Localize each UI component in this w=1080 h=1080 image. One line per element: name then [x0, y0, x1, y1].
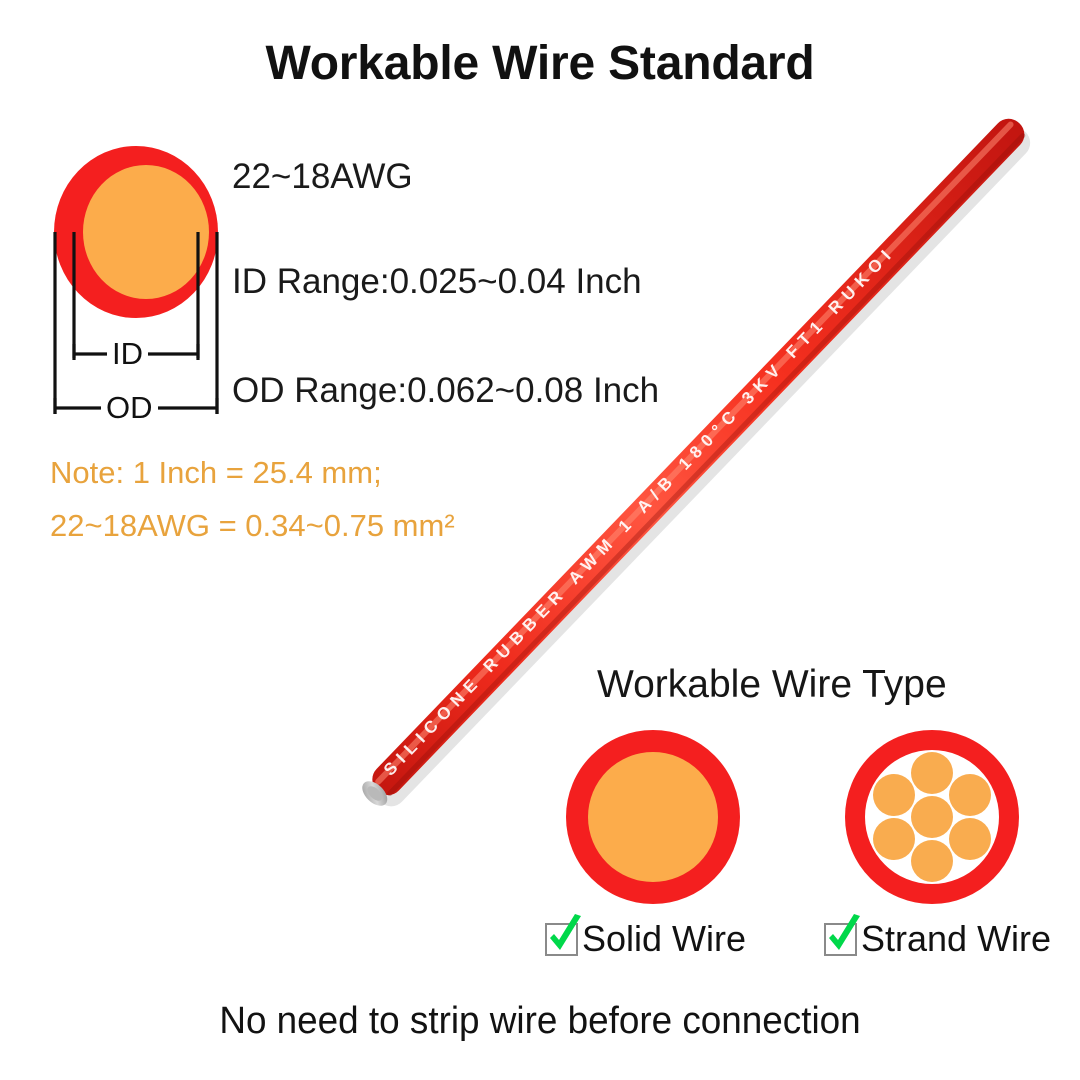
solid-wire-core: [588, 752, 718, 882]
strand-strand: [911, 752, 953, 794]
checkbox-strand-wire[interactable]: [824, 923, 857, 956]
strand-strand: [911, 840, 953, 882]
strand-strand: [873, 774, 915, 816]
check-icon: [545, 914, 585, 958]
note-line-2: 22~18AWG = 0.34~0.75 mm²: [50, 508, 455, 544]
wire-type-heading: Workable Wire Type: [597, 663, 947, 707]
strand-strand: [911, 796, 953, 838]
spec-od-range: OD Range:0.062~0.08 Inch: [232, 371, 659, 411]
wire-type-label-strand: Strand Wire: [861, 918, 1051, 960]
strand-strand: [949, 774, 991, 816]
strand-wire-icon: [845, 730, 1019, 904]
check-icon: [824, 914, 864, 958]
checkbox-solid-wire[interactable]: [545, 923, 578, 956]
strand-wire-field: [865, 750, 999, 884]
solid-wire-icon: [566, 730, 740, 904]
bottom-caption: No need to strip wire before connection: [16, 1000, 1064, 1043]
wire-type-label-solid: Solid Wire: [582, 918, 746, 960]
dimension-label-od: OD: [101, 392, 158, 423]
wire-cross-section-diagram: ID OD: [44, 146, 224, 416]
wire-type-option-strand[interactable]: Strand Wire: [824, 918, 1051, 960]
spec-id-range: ID Range:0.025~0.04 Inch: [232, 262, 642, 302]
strand-strand: [873, 818, 915, 860]
dimension-label-id: ID: [107, 338, 148, 369]
note-line-1: Note: 1 Inch = 25.4 mm;: [50, 455, 382, 491]
dimension-lines: [44, 146, 224, 416]
strand-strand: [949, 818, 991, 860]
wire-type-option-solid[interactable]: Solid Wire: [545, 918, 746, 960]
page-title: Workable Wire Standard: [0, 36, 1080, 91]
infographic-page: SILICONE RUBBER AWM 1 A/B 180°C 3KV FT1 …: [0, 0, 1080, 1080]
spec-awg-range: 22~18AWG: [232, 157, 413, 197]
